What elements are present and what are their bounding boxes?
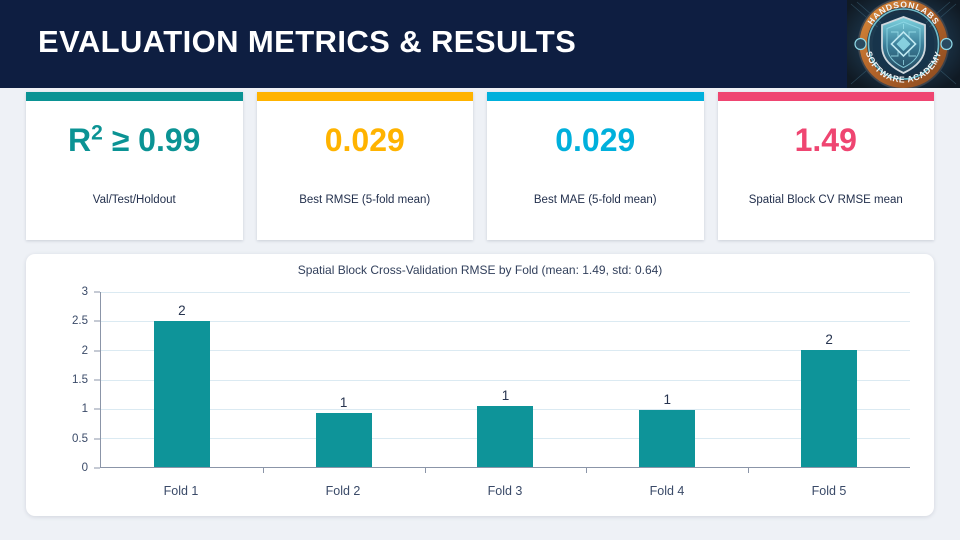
y-axis-tick-label: 1.5 bbox=[72, 374, 88, 386]
kpi-accent-bar bbox=[26, 92, 243, 101]
bar[interactable] bbox=[639, 410, 695, 467]
x-axis-tick-label: Fold 4 bbox=[586, 484, 748, 498]
bar-value-label: 2 bbox=[178, 303, 186, 318]
handsonlabs-logo: HANDSONLABS SOFTWARE ACADEMY bbox=[847, 0, 960, 88]
kpi-card-best-rmse: 0.029 Best RMSE (5-fold mean) bbox=[257, 92, 474, 240]
x-axis-tick-label: Fold 1 bbox=[100, 484, 262, 498]
chart-panel: Spatial Block Cross-Validation RMSE by F… bbox=[26, 254, 934, 516]
kpi-value-superscript: 2 bbox=[91, 121, 103, 144]
bar-slot: 1 bbox=[586, 292, 748, 467]
kpi-value: 1.49 bbox=[795, 123, 857, 158]
kpi-accent-bar bbox=[718, 92, 935, 101]
kpi-value-rest: ≥ 0.99 bbox=[103, 122, 201, 158]
bar-slot: 2 bbox=[101, 292, 263, 467]
kpi-value-main: R bbox=[68, 122, 91, 158]
x-axis: Fold 1Fold 2Fold 3Fold 4Fold 5 bbox=[100, 484, 910, 498]
kpi-value: 0.029 bbox=[555, 123, 635, 158]
x-axis-tick-mark bbox=[586, 467, 587, 473]
plot-area: 21112 bbox=[100, 292, 910, 468]
x-axis-tick-label: Fold 2 bbox=[262, 484, 424, 498]
y-axis-tick-label: 2.5 bbox=[72, 315, 88, 327]
kpi-label: Spatial Block CV RMSE mean bbox=[718, 194, 935, 206]
bar[interactable] bbox=[801, 350, 857, 467]
y-axis-tick-label: 2 bbox=[82, 345, 88, 357]
chart-title: Spatial Block Cross-Validation RMSE by F… bbox=[26, 263, 934, 277]
kpi-card-best-mae: 0.029 Best MAE (5-fold mean) bbox=[487, 92, 704, 240]
kpi-accent-bar bbox=[257, 92, 474, 101]
y-axis-tick-label: 3 bbox=[82, 286, 88, 298]
bar-slot: 1 bbox=[263, 292, 425, 467]
kpi-card-spatial-block-cv: 1.49 Spatial Block CV RMSE mean bbox=[718, 92, 935, 240]
bar[interactable] bbox=[316, 413, 372, 467]
bar-value-label: 1 bbox=[340, 395, 348, 410]
bar-value-label: 1 bbox=[664, 392, 672, 407]
slide-header: EVALUATION METRICS & RESULTS bbox=[0, 0, 960, 88]
x-axis-tick-mark bbox=[748, 467, 749, 473]
kpi-value: R2 ≥ 0.99 bbox=[68, 123, 200, 158]
bar-value-label: 1 bbox=[502, 388, 510, 403]
bar[interactable] bbox=[154, 321, 210, 467]
y-axis-tick-label: 0.5 bbox=[72, 433, 88, 445]
x-axis-tick-label: Fold 5 bbox=[748, 484, 910, 498]
kpi-label: Best RMSE (5-fold mean) bbox=[257, 194, 474, 206]
bar-chart: 32.521.510.50 21112 Fold 1Fold 2Fold 3Fo… bbox=[64, 292, 910, 468]
logo-badge-icon: HANDSONLABS SOFTWARE ACADEMY bbox=[847, 0, 960, 88]
bar-value-label: 2 bbox=[825, 332, 833, 347]
y-axis-tick-label: 1 bbox=[82, 403, 88, 415]
bar-series: 21112 bbox=[101, 292, 910, 467]
kpi-card-r2: R2 ≥ 0.99 Val/Test/Holdout bbox=[26, 92, 243, 240]
page-title: EVALUATION METRICS & RESULTS bbox=[38, 24, 576, 60]
kpi-label: Val/Test/Holdout bbox=[26, 194, 243, 206]
kpi-label: Best MAE (5-fold mean) bbox=[487, 194, 704, 206]
y-axis: 32.521.510.50 bbox=[64, 292, 94, 468]
kpi-value: 0.029 bbox=[325, 123, 405, 158]
slide: EVALUATION METRICS & RESULTS bbox=[0, 0, 960, 540]
y-axis-tick-label: 0 bbox=[82, 462, 88, 474]
kpi-card-row: R2 ≥ 0.99 Val/Test/Holdout 0.029 Best RM… bbox=[26, 92, 934, 240]
x-axis-tick-label: Fold 3 bbox=[424, 484, 586, 498]
bar-slot: 1 bbox=[425, 292, 587, 467]
kpi-accent-bar bbox=[487, 92, 704, 101]
x-axis-tick-mark bbox=[425, 467, 426, 473]
bar-slot: 2 bbox=[748, 292, 910, 467]
x-axis-tick-mark bbox=[263, 467, 264, 473]
bar[interactable] bbox=[477, 406, 533, 467]
